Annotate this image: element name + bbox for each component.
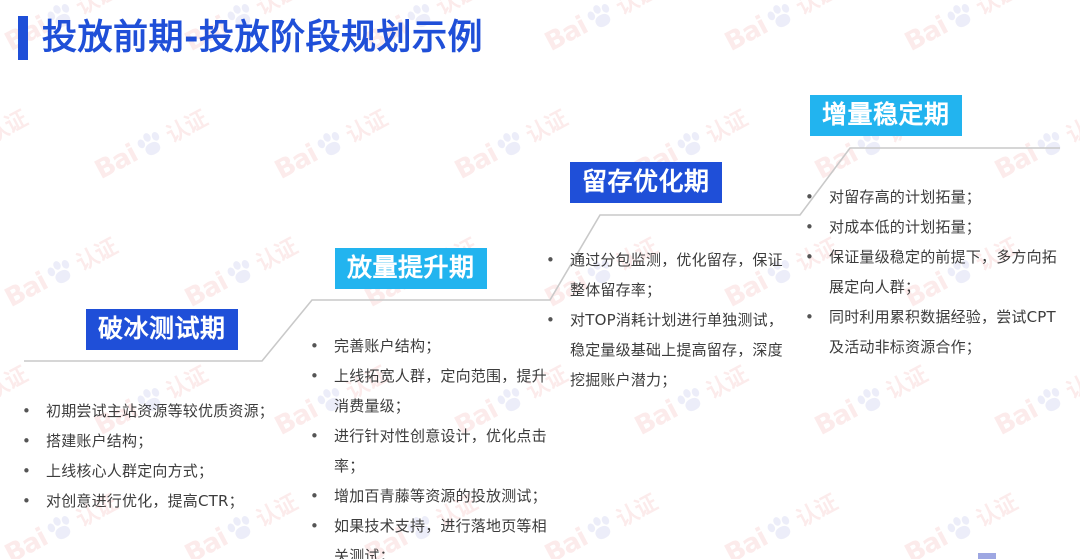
baidu-paw-icon: [854, 383, 888, 416]
list-item: 增加百青藤等资源的投放测试；: [308, 481, 555, 511]
stage-column-2: 放量提升期 完善账户结构； 上线拓宽人群，定向范围，提升消费量级； 进行针对性创…: [300, 248, 555, 559]
baidu-watermark: Bai认证: [900, 0, 1022, 59]
baidu-watermark: Bai认证: [90, 101, 212, 186]
watermark-renzheng-text: 认证: [340, 101, 392, 149]
list-item: 保证量级稳定的前提下，多方向拓展定向人群；: [803, 242, 1065, 302]
watermark-bai-text: Bai: [720, 11, 772, 58]
watermark-bai-text: Bai: [630, 395, 682, 442]
baidu-paw-icon: [584, 511, 618, 544]
baidu-watermark: Bai认证: [810, 357, 932, 442]
stage-bullet-list-4: 对留存高的计划拓量； 对成本低的计划拓量； 保证量级稳定的前提下，多方向拓展定向…: [803, 182, 1065, 362]
baidu-paw-icon: [44, 511, 78, 544]
baidu-watermark: Bai认证: [0, 101, 32, 186]
list-item: 搭建账户结构；: [20, 426, 290, 456]
watermark-bai-text: Bai: [450, 139, 502, 186]
list-item: 对留存高的计划拓量；: [803, 182, 1065, 212]
watermark-bai-text: Bai: [0, 267, 52, 314]
bottom-edge-mark: [978, 553, 996, 559]
baidu-watermark: Bai认证: [720, 485, 842, 559]
watermark-bai-text: Bai: [900, 11, 952, 58]
stage-badge-3[interactable]: 留存优化期: [570, 162, 722, 203]
watermark-bai-text: Bai: [990, 395, 1042, 442]
list-item: 进行针对性创意设计，优化点击率；: [308, 421, 555, 481]
watermark-renzheng-text: 认证: [790, 485, 842, 533]
list-item: 同时利用累积数据经验，尝试CPT及活动非标资源合作；: [803, 302, 1065, 362]
baidu-paw-icon: [764, 0, 798, 32]
baidu-watermark: Bai认证: [540, 485, 662, 559]
baidu-watermark: Bai认证: [540, 0, 662, 59]
watermark-bai-text: Bai: [0, 523, 52, 559]
baidu-paw-icon: [134, 127, 168, 160]
baidu-watermark: Bai认证: [180, 229, 302, 314]
list-item: 初期尝试主站资源等较优质资源；: [20, 396, 290, 426]
watermark-renzheng-text: 认证: [1060, 357, 1080, 405]
baidu-watermark: Bai认证: [0, 229, 122, 314]
stage-bullet-list-2: 完善账户结构； 上线拓宽人群，定向范围，提升消费量级； 进行针对性创意设计，优化…: [308, 331, 555, 559]
slide-canvas: Bai认证Bai认证Bai认证Bai认证Bai认证Bai认证Bai认证Bai认证…: [0, 0, 1080, 559]
slide-title-row: 投放前期-投放阶段规划示例: [18, 16, 483, 60]
watermark-renzheng-text: 认证: [520, 101, 572, 149]
baidu-paw-icon: [944, 511, 978, 544]
watermark-bai-text: Bai: [720, 523, 772, 559]
watermark-renzheng-text: 认证: [880, 357, 932, 405]
title-accent-bar: [18, 16, 28, 60]
stage-badge-2[interactable]: 放量提升期: [335, 248, 487, 289]
watermark-renzheng-text: 认证: [610, 485, 662, 533]
baidu-paw-icon: [764, 511, 798, 544]
page-title: 投放前期-投放阶段规划示例: [42, 21, 483, 56]
stage-column-3: 留存优化期 通过分包监测，优化留存，保证整体留存率； 对TOP消耗计划进行单独测…: [540, 162, 790, 395]
list-item: 对创意进行优化，提高CTR；: [20, 486, 290, 516]
list-item: 完善账户结构；: [308, 331, 555, 361]
watermark-renzheng-text: 认证: [700, 101, 752, 149]
baidu-paw-icon: [1034, 383, 1068, 416]
baidu-watermark: Bai认证: [720, 0, 842, 59]
baidu-paw-icon: [584, 0, 618, 32]
watermark-renzheng-text: 认证: [160, 101, 212, 149]
watermark-renzheng-text: 认证: [970, 485, 1022, 533]
watermark-bai-text: Bai: [810, 395, 862, 442]
stage-badge-4[interactable]: 增量稳定期: [810, 95, 962, 136]
baidu-paw-icon: [494, 127, 528, 160]
list-item: 上线核心人群定向方式；: [20, 456, 290, 486]
stage-column-4: 增量稳定期 对留存高的计划拓量； 对成本低的计划拓量； 保证量级稳定的前提下，多…: [785, 95, 1065, 362]
baidu-paw-icon: [224, 255, 258, 288]
list-item: 如果技术支持，进行落地页等相关测试；: [308, 511, 555, 559]
baidu-watermark: Bai认证: [270, 101, 392, 186]
baidu-watermark: Bai认证: [900, 485, 1022, 559]
watermark-bai-text: Bai: [900, 523, 952, 559]
stage-bullet-list-3: 通过分包监测，优化留存，保证整体留存率； 对TOP消耗计划进行单独测试，稳定量级…: [544, 245, 790, 395]
list-item: 上线拓宽人群，定向范围，提升消费量级；: [308, 361, 555, 421]
baidu-watermark: Bai认证: [990, 357, 1080, 442]
watermark-bai-text: Bai: [540, 11, 592, 58]
watermark-bai-text: Bai: [270, 139, 322, 186]
baidu-paw-icon: [944, 0, 978, 32]
watermark-bai-text: Bai: [90, 139, 142, 186]
list-item: 对TOP消耗计划进行单独测试，稳定量级基础上提高留存，深度挖掘账户潜力；: [544, 305, 790, 395]
watermark-renzheng-text: 认证: [610, 0, 662, 21]
watermark-bai-text: Bai: [180, 523, 232, 559]
watermark-renzheng-text: 认证: [0, 101, 32, 149]
stage-badge-1[interactable]: 破冰测试期: [86, 309, 238, 350]
baidu-paw-icon: [44, 255, 78, 288]
watermark-bai-text: Bai: [180, 267, 232, 314]
baidu-paw-icon: [224, 511, 258, 544]
list-item: 对成本低的计划拓量；: [803, 212, 1065, 242]
watermark-renzheng-text: 认证: [250, 229, 302, 277]
list-item: 通过分包监测，优化留存，保证整体留存率；: [544, 245, 790, 305]
watermark-renzheng-text: 认证: [790, 0, 842, 21]
baidu-paw-icon: [674, 127, 708, 160]
watermark-renzheng-text: 认证: [70, 229, 122, 277]
stage-bullet-list-1: 初期尝试主站资源等较优质资源； 搭建账户结构； 上线核心人群定向方式； 对创意进…: [20, 396, 290, 516]
watermark-renzheng-text: 认证: [970, 0, 1022, 21]
baidu-paw-icon: [314, 127, 348, 160]
stage-column-1: 破冰测试期 初期尝试主站资源等较优质资源； 搭建账户结构； 上线核心人群定向方式…: [20, 309, 290, 516]
